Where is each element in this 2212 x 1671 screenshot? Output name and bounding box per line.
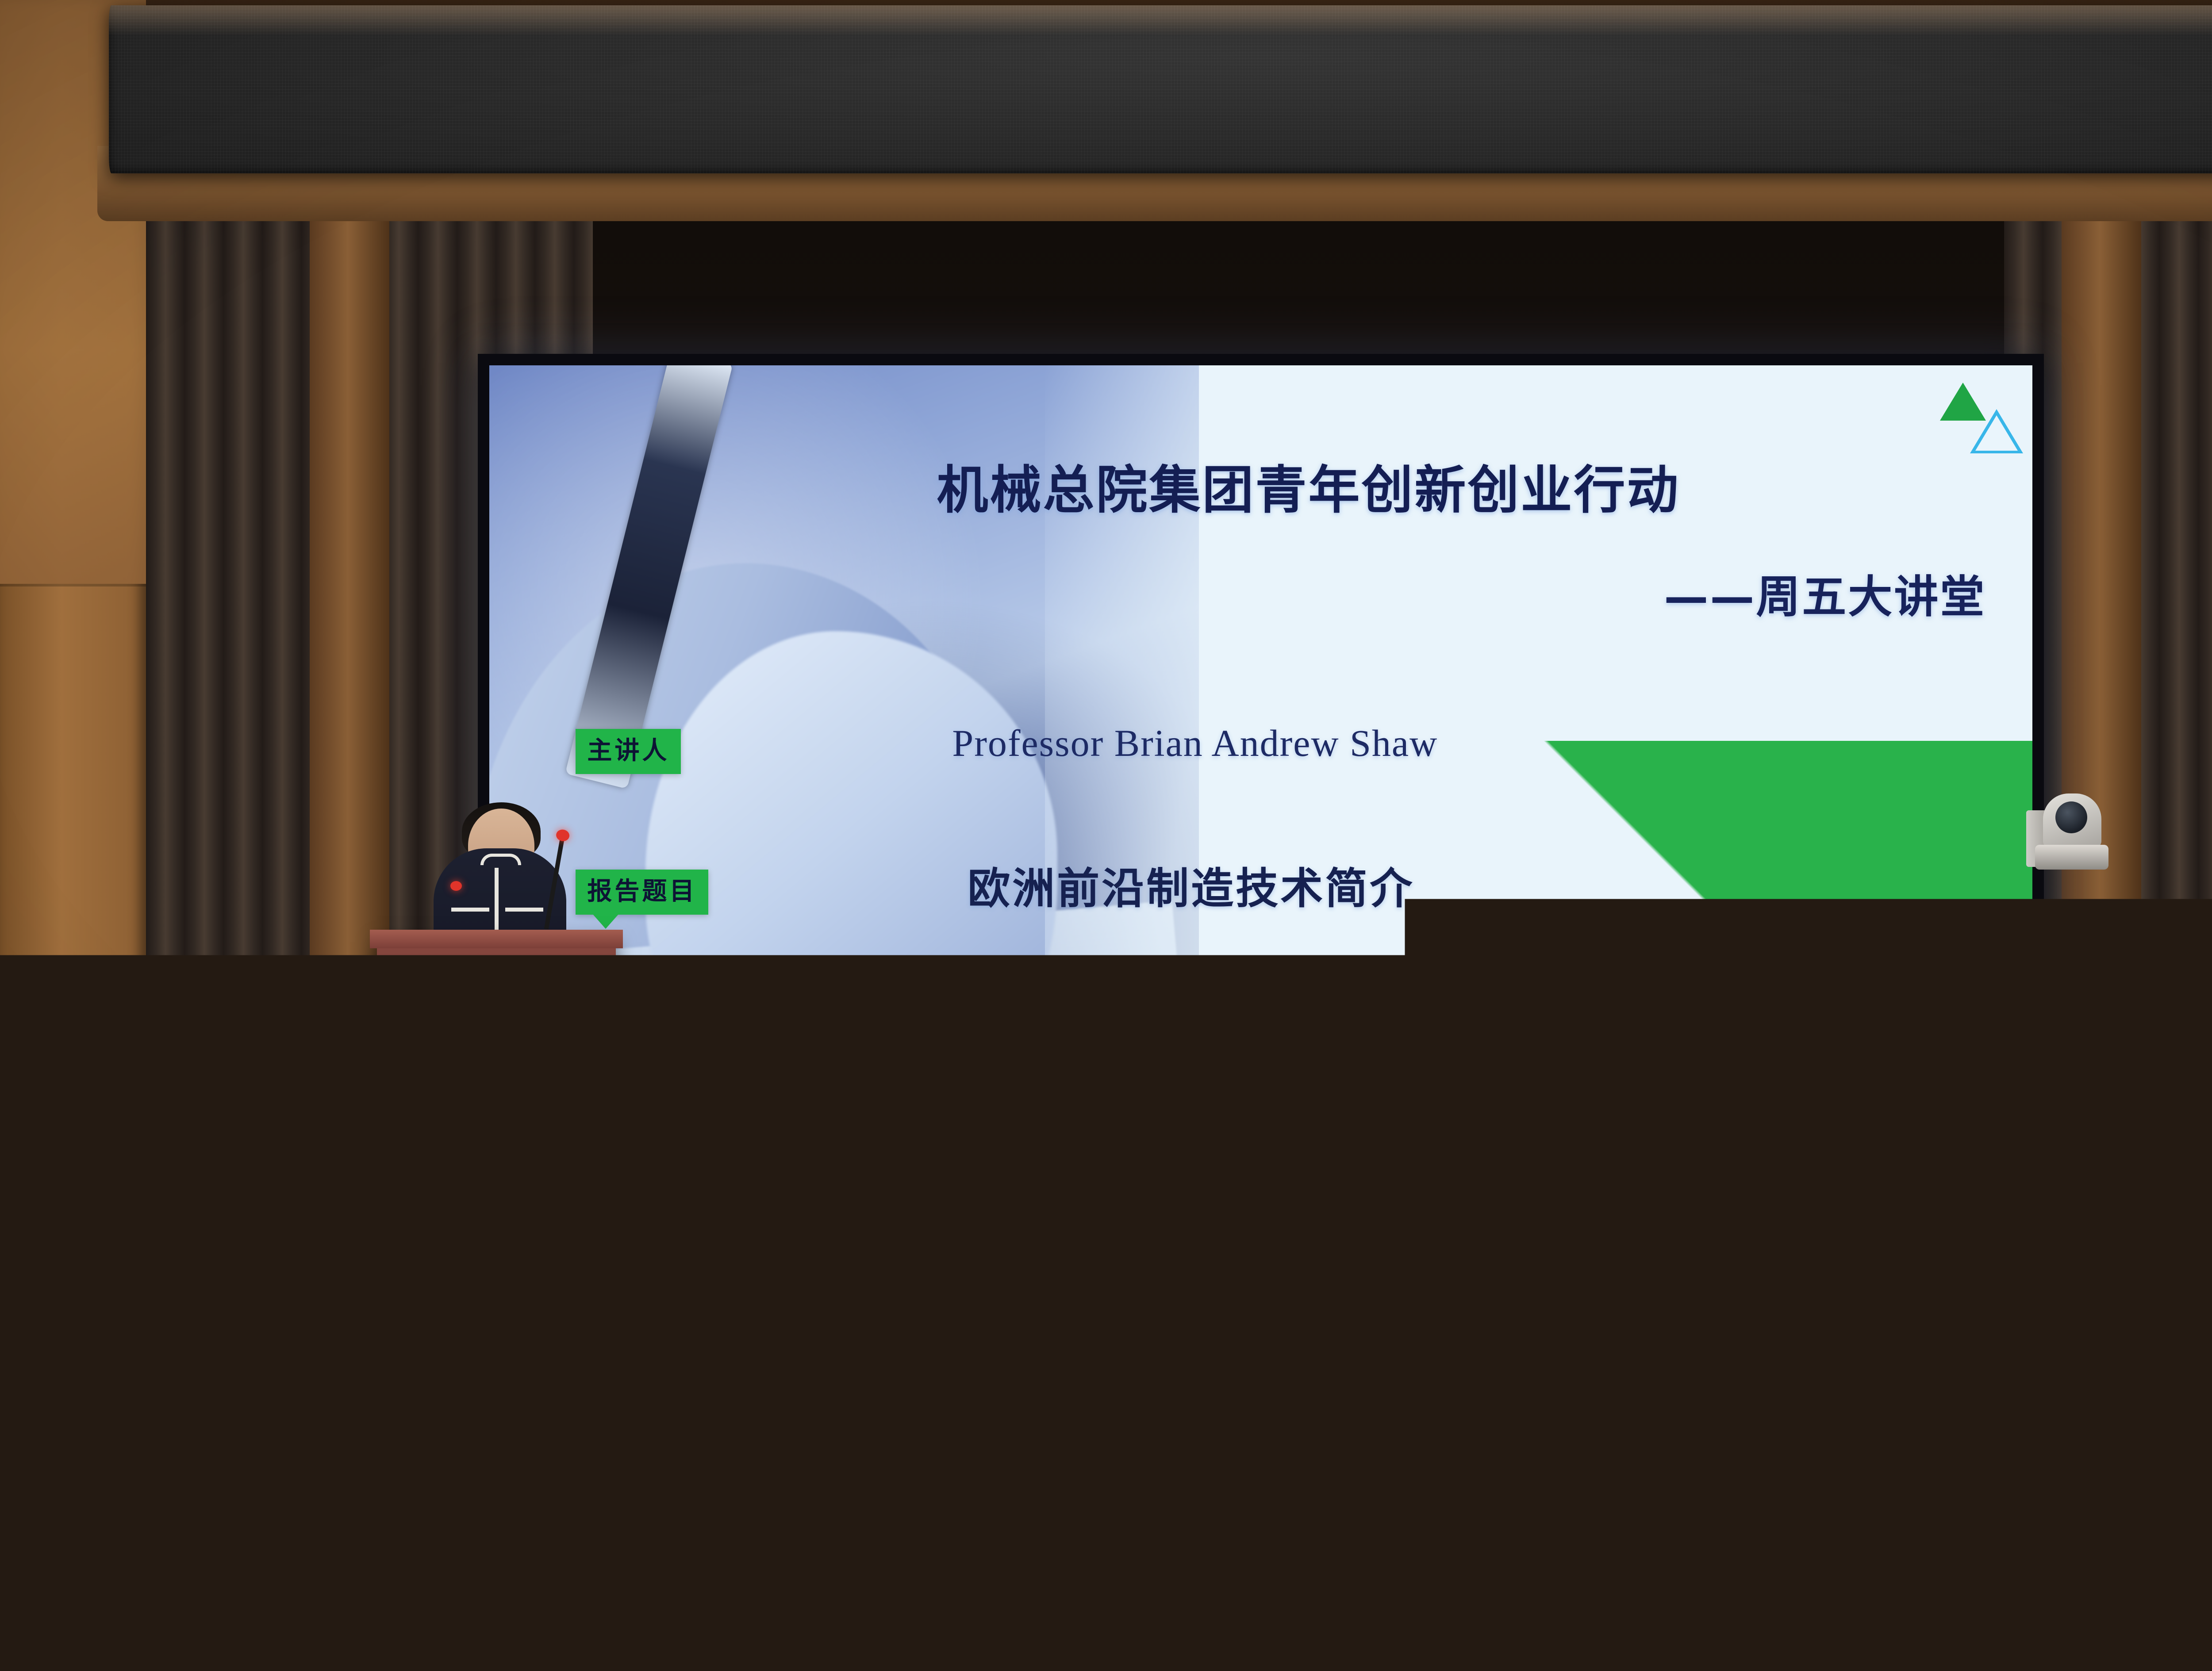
projection-screen-frame: 机械总院集团青年创新创业行动 ——周五大讲堂 主讲人 Professor Bri… <box>478 354 2044 1159</box>
person-torso <box>1663 1177 1805 1238</box>
podium <box>377 934 616 1164</box>
topic-title-english: Introduction of advanced manufacturing t… <box>960 960 1701 1025</box>
water-bottle <box>619 1557 666 1671</box>
presenter-collar-trim <box>480 854 521 865</box>
topic-title-chinese: 欧洲前沿制造技术简介 <box>968 854 1414 916</box>
camera-base <box>2035 845 2108 870</box>
projection-screen: 机械总院集团青年创新创业行动 ——周五大讲堂 主讲人 Professor Bri… <box>489 365 2032 1147</box>
audience-person-e5 <box>1575 1309 1938 1671</box>
camera-lens-icon <box>2055 801 2087 833</box>
presenter-pocket-trim-left <box>451 908 489 912</box>
led-banner-text: 机械总院集团2018年第四期周五大讲堂 <box>109 38 2212 158</box>
bottle-label <box>1460 1514 1509 1564</box>
audience-person-e4 <box>726 1274 1035 1671</box>
audience-person-d3 <box>1009 1238 1239 1495</box>
bottle-label <box>526 1540 578 1593</box>
water-bottle <box>526 1455 578 1632</box>
person-head <box>765 1274 995 1522</box>
wall-seam-1 <box>0 584 146 586</box>
person-head <box>1827 1123 1951 1261</box>
wood-pilaster-left <box>310 221 389 1336</box>
lecture-hall-photo: 机械总院集团2018年第四期周五大讲堂 机械总院集团青年创新创业行动 ——周五 <box>0 0 2212 1671</box>
bottle-label <box>619 1612 666 1646</box>
water-bottle <box>1955 1451 2007 1628</box>
speaker-badge: 主讲人 <box>576 729 681 774</box>
person-head <box>292 1345 513 1552</box>
wall-seam-2 <box>0 964 146 967</box>
bottle-label <box>1141 1419 1184 1463</box>
bottle-label <box>2048 1616 2094 1648</box>
person-head <box>535 1221 695 1398</box>
topic-english-line-2: manufacturing technology in Europe <box>960 993 1701 1025</box>
ptz-camera <box>2026 778 2110 880</box>
topic-english-line-1: Introduction of advanced <box>960 960 1701 993</box>
slide-title: 机械总院集团青年创新创业行动 <box>937 463 1986 518</box>
speaker-name: Professor Brian Andrew Shaw <box>952 721 1438 765</box>
person-head <box>1356 1194 1528 1380</box>
person-torso <box>726 1513 1035 1671</box>
presenter-placket-trim <box>495 868 499 934</box>
water-bottle <box>2048 1566 2094 1671</box>
podium-top <box>370 930 623 948</box>
topic-badge: 报告题目 <box>576 870 708 915</box>
water-bottle <box>1141 1349 1184 1495</box>
presenter-pocket-trim-right <box>505 908 543 912</box>
audience-person-b4 <box>1663 1097 1805 1238</box>
led-board-sheen <box>109 5 2212 37</box>
person-head <box>2163 1318 2212 1539</box>
thermos-lid <box>1221 1362 1259 1387</box>
bottle-label <box>1955 1536 2007 1589</box>
person-torso <box>1575 1526 1938 1671</box>
paper-sheet <box>379 1598 484 1644</box>
blue-triangle-outline-icon <box>1970 409 2023 453</box>
person-torso <box>1009 1398 1239 1495</box>
thermos-flask <box>1221 1362 1259 1473</box>
audience-person-d4 <box>1318 1194 1566 1495</box>
person-torso <box>2097 1526 2212 1671</box>
person-head <box>1110 1026 1212 1143</box>
person-head <box>1632 1309 1880 1539</box>
person-head <box>723 1132 843 1265</box>
water-bottle <box>1460 1433 1509 1601</box>
led-banner-board: 机械总院集团2018年第四期周五大讲堂 <box>109 5 2212 173</box>
lapel-indicator-light <box>450 881 462 891</box>
slide-subtitle: ——周五大讲堂 <box>937 573 1986 621</box>
audience-person-e6 <box>2097 1318 2212 1671</box>
person-head <box>18 1203 265 1522</box>
